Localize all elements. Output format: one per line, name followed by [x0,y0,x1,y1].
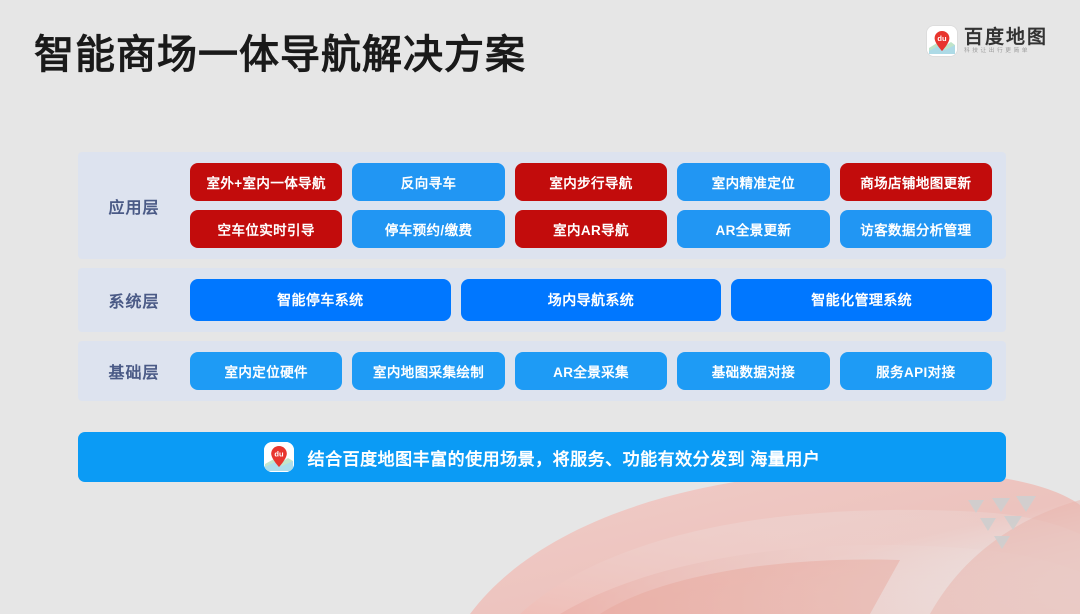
layer-card-group: 室外+室内一体导航 反向寻车 室内步行导航 室内精准定位 商场店铺地图更新 空车… [190,163,992,248]
card-visitor-data-analysis[interactable]: 访客数据分析管理 [840,210,992,248]
brand-name: 百度地图 [964,28,1048,47]
card-mall-store-map-update[interactable]: 商场店铺地图更新 [840,163,992,201]
card-empty-space-guidance[interactable]: 空车位实时引导 [190,210,342,248]
card-indoor-positioning-hardware[interactable]: 室内定位硬件 [190,352,342,390]
card-indoor-ar-nav[interactable]: 室内AR导航 [515,210,667,248]
brand-tagline: 科技让出行更简单 [964,48,1045,54]
page-title: 智能商场一体导航解决方案 [34,22,526,80]
card-ar-panorama-update[interactable]: AR全景更新 [677,210,829,248]
baidu-map-pin-icon: du [927,26,957,56]
layer-label: 应用层 [78,194,190,218]
layer-foundation: 基础层 室内定位硬件 室内地图采集绘制 AR全景采集 基础数据对接 服务API对… [78,341,1006,401]
card-smart-management-system[interactable]: 智能化管理系统 [731,279,992,321]
baidu-map-app-icon: du [264,442,294,472]
svg-text:du: du [937,34,947,43]
card-row: 智能停车系统 场内导航系统 智能化管理系统 [190,279,992,321]
layer-label: 基础层 [78,359,190,383]
layer-system: 系统层 智能停车系统 场内导航系统 智能化管理系统 [78,268,1006,332]
layer-application: 应用层 室外+室内一体导航 反向寻车 室内步行导航 室内精准定位 商场店铺地图更… [78,152,1006,259]
layer-label: 系统层 [78,288,190,312]
card-row: 室外+室内一体导航 反向寻车 室内步行导航 室内精准定位 商场店铺地图更新 [190,163,992,201]
card-ar-panorama-capture[interactable]: AR全景采集 [515,352,667,390]
card-indoor-precise-pos[interactable]: 室内精准定位 [677,163,829,201]
brand-logo: du 百度地图 科技让出行更简单 [927,26,1048,56]
card-base-data-integration[interactable]: 基础数据对接 [677,352,829,390]
page-header: 智能商场一体导航解决方案 du 百度地图 科技让出行更简单 [0,0,1080,100]
svg-text:du: du [274,450,284,459]
triangle-cluster-icon [968,496,1036,549]
layer-card-group: 室内定位硬件 室内地图采集绘制 AR全景采集 基础数据对接 服务API对接 [190,352,992,390]
layer-card-group: 智能停车系统 场内导航系统 智能化管理系统 [190,279,992,321]
card-parking-booking-pay[interactable]: 停车预约/缴费 [352,210,504,248]
card-smart-parking-system[interactable]: 智能停车系统 [190,279,451,321]
card-service-api-integration[interactable]: 服务API对接 [840,352,992,390]
architecture-stack: 应用层 室外+室内一体导航 反向寻车 室内步行导航 室内精准定位 商场店铺地图更… [78,152,1006,410]
ribbon-swoosh-icon [470,470,1080,614]
footer-banner: du 结合百度地图丰富的使用场景，将服务、功能有效分发到 海量用户 [78,432,1006,482]
card-row: 室内定位硬件 室内地图采集绘制 AR全景采集 基础数据对接 服务API对接 [190,352,992,390]
card-indoor-map-collection[interactable]: 室内地图采集绘制 [352,352,504,390]
banner-text: 结合百度地图丰富的使用场景，将服务、功能有效分发到 海量用户 [308,445,821,470]
card-reverse-car-finding[interactable]: 反向寻车 [352,163,504,201]
card-row: 空车位实时引导 停车预约/缴费 室内AR导航 AR全景更新 访客数据分析管理 [190,210,992,248]
card-indoor-nav-system[interactable]: 场内导航系统 [461,279,722,321]
card-indoor-walking-nav[interactable]: 室内步行导航 [515,163,667,201]
card-outdoor-indoor-nav[interactable]: 室外+室内一体导航 [190,163,342,201]
